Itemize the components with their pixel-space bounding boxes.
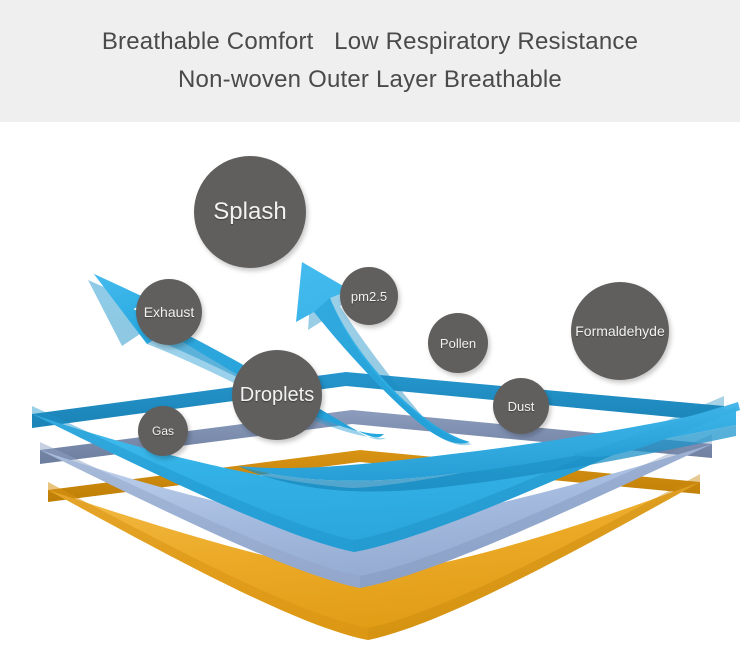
bubble-label-exhaust: Exhaust	[144, 304, 195, 320]
bubble-label-droplets: Droplets	[240, 384, 314, 407]
bubble-pollen[interactable]: Pollen	[428, 313, 488, 373]
bubble-label-splash: Splash	[213, 198, 286, 226]
mask-layer-diagram	[0, 122, 740, 645]
bubble-label-pm25: pm2.5	[351, 289, 387, 304]
bubble-label-gas: Gas	[152, 424, 174, 438]
header-line-2: Non-woven Outer Layer Breathable	[178, 63, 562, 97]
bubble-exhaust[interactable]: Exhaust	[136, 279, 202, 345]
bubble-droplets[interactable]: Droplets	[232, 350, 322, 440]
bubble-formaldehyde[interactable]: Formaldehyde	[571, 282, 669, 380]
bubble-splash[interactable]: Splash	[194, 156, 306, 268]
header-line-1: Breathable Comfort Low Respiratory Resis…	[102, 25, 638, 59]
bubble-gas[interactable]: Gas	[138, 406, 188, 456]
bubble-label-formaldehyde: Formaldehyde	[575, 323, 665, 339]
bubble-dust[interactable]: Dust	[493, 378, 549, 434]
bubble-label-dust: Dust	[508, 399, 535, 414]
bubble-pm25[interactable]: pm2.5	[340, 267, 398, 325]
header-banner: Breathable Comfort Low Respiratory Resis…	[0, 0, 740, 122]
diagram-svg	[0, 122, 740, 645]
bubble-label-pollen: Pollen	[440, 336, 476, 351]
infographic-page: Breathable Comfort Low Respiratory Resis…	[0, 0, 740, 645]
